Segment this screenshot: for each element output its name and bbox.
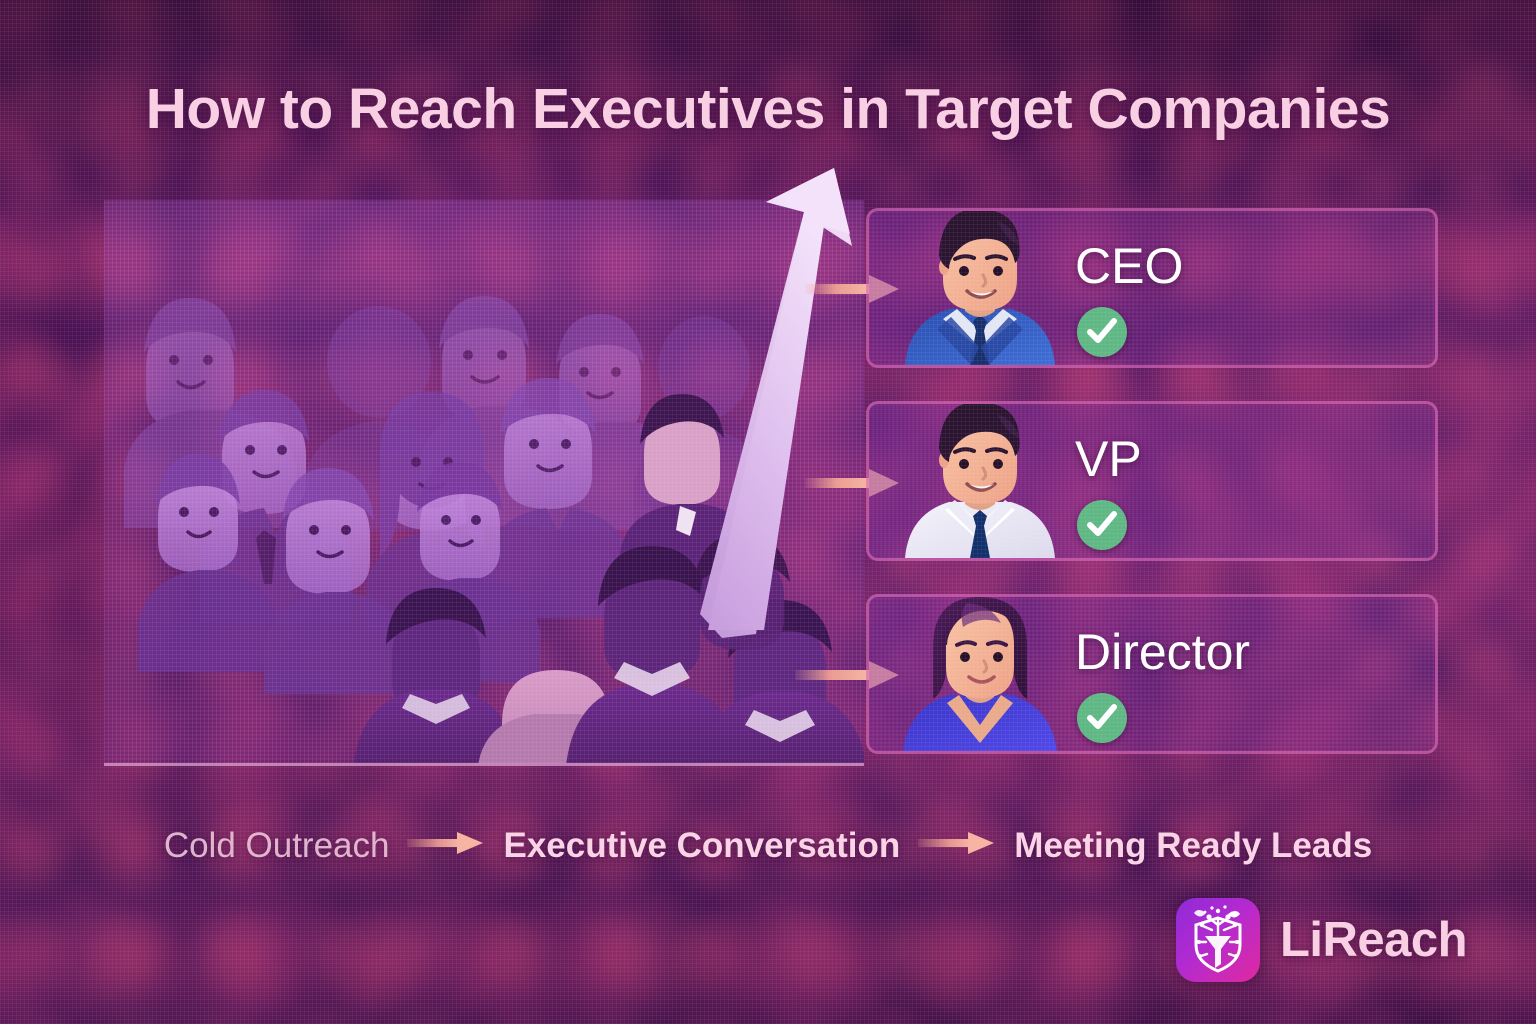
- avatar-director: [899, 594, 1061, 751]
- brand-logo[interactable]: LiReach: [1176, 898, 1467, 982]
- growth-arrow-icon: [700, 168, 880, 638]
- card-label-vp: VP: [1075, 434, 1142, 484]
- card-label-director: Director: [1075, 627, 1250, 677]
- avatar-vp: [899, 401, 1061, 558]
- arrow-right-icon-flow-1: [407, 830, 485, 861]
- flow-step-3: Meeting Ready Leads: [1014, 828, 1372, 863]
- flow-step-2: Executive Conversation: [503, 828, 900, 863]
- check-circle-icon-vp: [1077, 500, 1127, 550]
- executive-card-director[interactable]: Director: [866, 594, 1438, 754]
- executive-card-vp[interactable]: VP: [866, 401, 1438, 561]
- executive-card-ceo[interactable]: CEO: [866, 208, 1438, 368]
- shield-circuit-icon: [1176, 898, 1260, 982]
- crowd-second-row: [200, 378, 632, 628]
- check-circle-icon-ceo: [1077, 307, 1127, 357]
- avatar-ceo: [899, 208, 1061, 365]
- brand-name: LiReach: [1280, 912, 1467, 968]
- check-circle-icon-director: [1077, 693, 1127, 743]
- flow-step-1: Cold Outreach: [164, 828, 390, 863]
- card-label-ceo: CEO: [1075, 241, 1183, 291]
- arrow-right-icon-flow-2: [918, 830, 996, 861]
- process-flow: Cold Outreach Executive Conversation Mee…: [0, 828, 1536, 863]
- page-title: How to Reach Executives in Target Compan…: [0, 76, 1536, 142]
